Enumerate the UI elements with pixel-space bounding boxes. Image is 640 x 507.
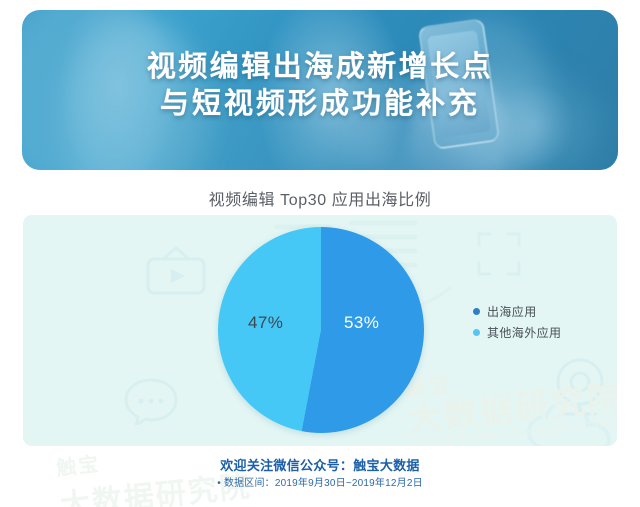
- tv-player-icon: [145, 243, 207, 297]
- brand-watermark-en: CooTek Big Data Research Institute: [410, 417, 617, 446]
- pie-slice-label-primary: 53%: [344, 313, 379, 333]
- pie-chart: 53% 47%: [218, 227, 424, 433]
- legend-color-dot: [473, 308, 480, 315]
- brand-watermark-right: 触宝 大数据研究院 CooTek Big Data Research Insti…: [404, 357, 617, 446]
- chat-bubble-icon: [123, 375, 179, 425]
- webcam-icon: [550, 357, 610, 419]
- banner-title-line-1: 视频编辑出海成新增长点: [22, 48, 618, 85]
- cloud-icon: [523, 401, 617, 446]
- legend-item-label: 出海应用: [487, 303, 537, 320]
- chart-legend: 出海应用 其他海外应用: [473, 302, 561, 344]
- legend-item-1[interactable]: 其他海外应用: [473, 323, 561, 342]
- legend-item-0[interactable]: 出海应用: [473, 302, 561, 321]
- chart-title: 视频编辑 Top30 应用出海比例: [0, 186, 640, 210]
- crop-frame-icon: [476, 231, 522, 277]
- banner-title: 视频编辑出海成新增长点 与短视频形成功能补充: [22, 48, 618, 122]
- infographic-page: 视频编辑出海成新增长点 与短视频形成功能补充 视频编辑 Top30 应用出海比例: [0, 0, 640, 507]
- brand-watermark-cn-top: 触宝: [404, 357, 617, 402]
- footer-date-range: • 数据区间：2019年9月30日~2019年12月2日: [0, 474, 640, 489]
- legend-color-dot: [473, 329, 480, 336]
- banner-title-line-2: 与短视频形成功能补充: [22, 85, 618, 122]
- pie-slice-label-secondary: 47%: [248, 313, 283, 333]
- header-banner: 视频编辑出海成新增长点 与短视频形成功能补充: [22, 10, 618, 170]
- footer-wechat-line: 欢迎关注微信公众号：触宝大数据: [0, 455, 640, 474]
- brand-watermark-cn-bottom: 大数据研究院: [406, 378, 617, 438]
- legend-item-label: 其他海外应用: [487, 324, 561, 341]
